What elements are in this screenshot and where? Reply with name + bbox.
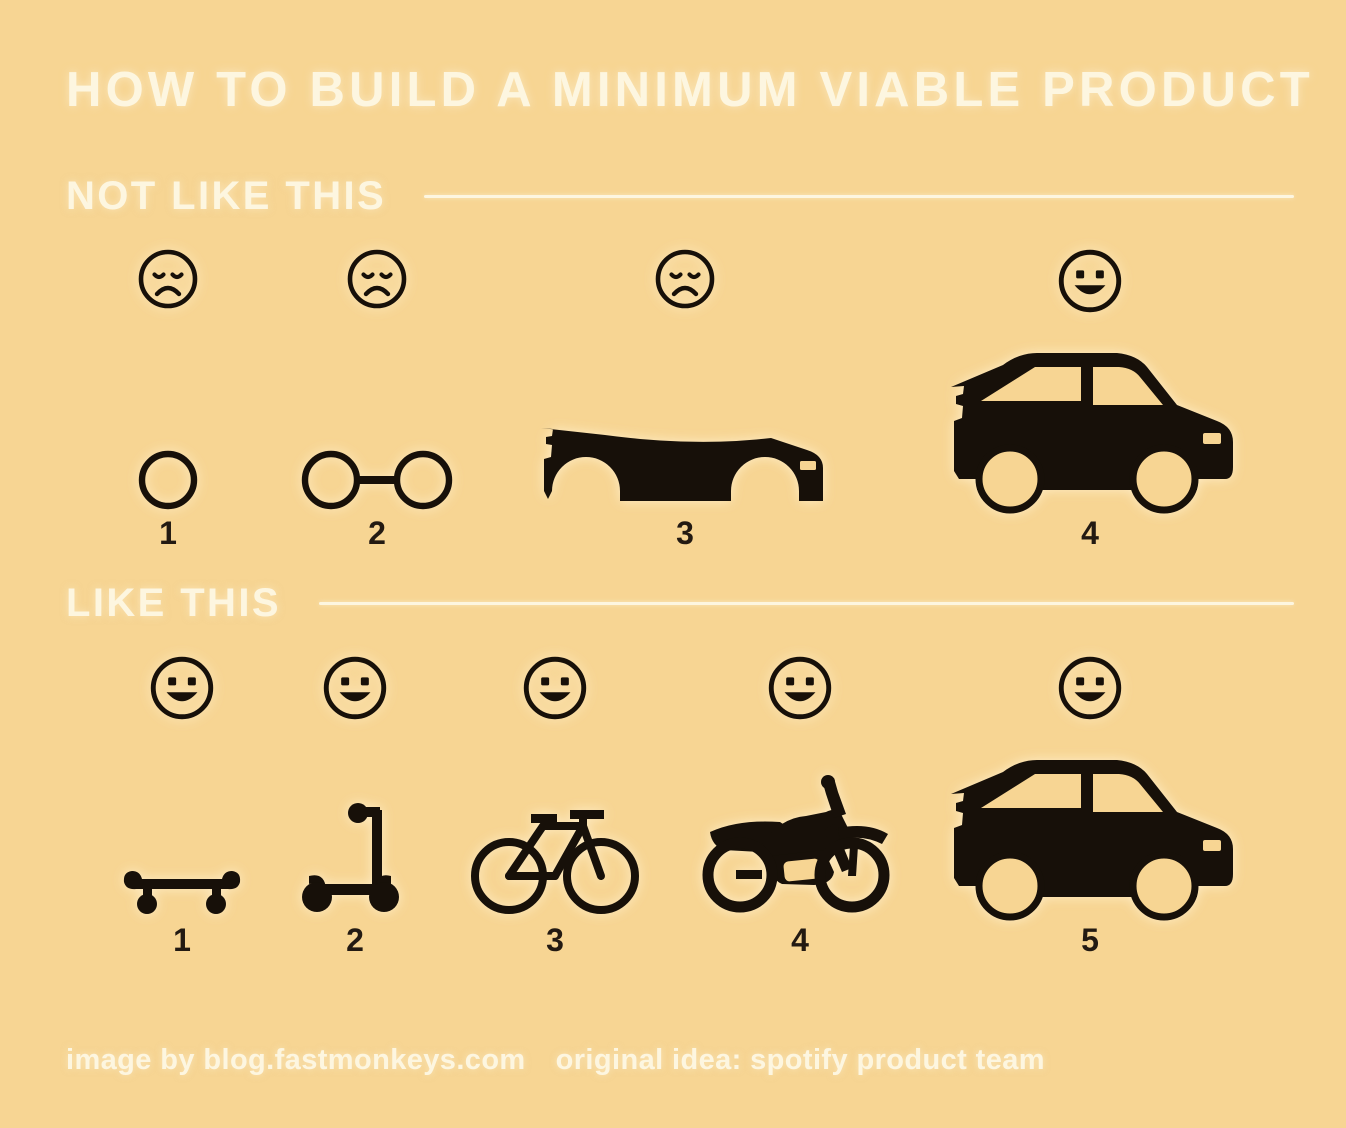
infographic-poster: HOW TO BUILD A MINIMUM VIABLE PRODUCT NO… (0, 0, 1346, 1128)
step-like-3: 3 (470, 655, 640, 956)
art-slot (301, 326, 453, 511)
car-icon (941, 339, 1239, 511)
car-chassis-icon (535, 413, 835, 511)
step-not-1: 1 (108, 248, 228, 549)
art-slot (120, 733, 244, 918)
wheel-icon (137, 449, 199, 511)
step-number: 3 (676, 517, 694, 549)
sad-face-icon (346, 248, 408, 310)
art-slot (471, 733, 639, 918)
credit-idea: original idea: spotify product team (556, 1044, 1045, 1077)
happy-face-icon (322, 655, 388, 721)
section-header-not-like-this: NOT LIKE THIS (66, 176, 1294, 216)
step-number: 4 (1081, 517, 1099, 549)
section-header-like-this: LIKE THIS (66, 583, 1294, 623)
step-number: 1 (173, 924, 191, 956)
step-number: 5 (1081, 924, 1099, 956)
art-slot (535, 326, 835, 511)
step-like-5: 5 (930, 655, 1250, 956)
face-slot (1057, 248, 1123, 326)
art-slot (702, 733, 898, 918)
art-slot (941, 326, 1239, 511)
step-like-1: 1 (120, 655, 244, 956)
art-slot (137, 326, 199, 511)
happy-face-icon (767, 655, 833, 721)
art-slot (295, 733, 415, 918)
step-number: 2 (346, 924, 364, 956)
motorcycle-icon (702, 772, 898, 918)
section-label-not-like-this: NOT LIKE THIS (66, 176, 386, 216)
axle-wheels-icon (301, 449, 453, 511)
face-slot (1057, 655, 1123, 733)
face-slot (149, 655, 215, 733)
face-slot (346, 248, 408, 326)
happy-face-icon (1057, 248, 1123, 314)
scooter-icon (295, 796, 415, 918)
face-slot (654, 248, 716, 326)
section-divider-rule (319, 602, 1294, 605)
footer-credits: image by blog.fastmonkeys.com original i… (66, 1044, 1045, 1077)
credit-image: image by blog.fastmonkeys.com (66, 1044, 526, 1077)
step-number: 3 (546, 924, 564, 956)
face-slot (767, 655, 833, 733)
section-label-like-this: LIKE THIS (66, 583, 281, 623)
car-icon (941, 746, 1239, 918)
step-not-4: 4 (930, 248, 1250, 549)
section-divider-rule (424, 195, 1294, 198)
step-like-4: 4 (700, 655, 900, 956)
face-slot (137, 248, 199, 326)
steps-row-not-like-this: 1 2 (0, 248, 1346, 548)
step-not-2: 2 (297, 248, 457, 549)
page-title: HOW TO BUILD A MINIMUM VIABLE PRODUCT (66, 66, 1314, 115)
step-not-3: 3 (525, 248, 845, 549)
art-slot (941, 733, 1239, 918)
happy-face-icon (522, 655, 588, 721)
steps-row-like-this: 1 (0, 655, 1346, 955)
happy-face-icon (1057, 655, 1123, 721)
face-slot (522, 655, 588, 733)
face-slot (322, 655, 388, 733)
skateboard-icon (120, 866, 244, 918)
step-number: 2 (368, 517, 386, 549)
happy-face-icon (149, 655, 215, 721)
sad-face-icon (654, 248, 716, 310)
sad-face-icon (137, 248, 199, 310)
step-like-2: 2 (290, 655, 420, 956)
step-number: 1 (159, 517, 177, 549)
step-number: 4 (791, 924, 809, 956)
bicycle-icon (471, 790, 639, 918)
